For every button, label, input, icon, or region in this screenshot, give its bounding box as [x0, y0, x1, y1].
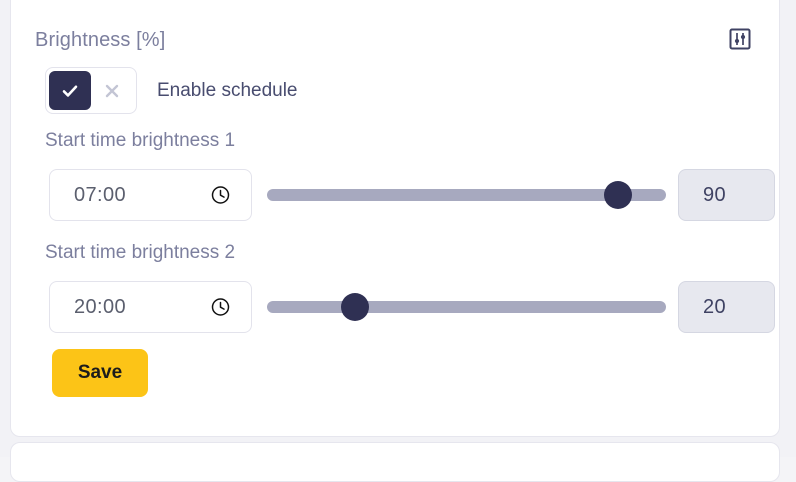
next-card-peek	[10, 442, 780, 482]
start-time-brightness-1-label: Start time brightness 1	[45, 130, 235, 152]
brightness-1-slider-knob[interactable]	[604, 181, 632, 209]
clock-icon[interactable]	[211, 186, 230, 205]
brightness-1-slider[interactable]	[267, 184, 666, 206]
enable-schedule-toggle[interactable]	[45, 67, 137, 114]
brightness-2-slider[interactable]	[267, 296, 666, 318]
enable-schedule-row: Enable schedule	[45, 67, 298, 114]
card-body: Brightness [%]	[11, 0, 779, 436]
enable-schedule-label: Enable schedule	[157, 80, 298, 102]
brightness-2-row: 20:00 20	[11, 281, 779, 333]
start-time-2-value: 20:00	[74, 296, 126, 319]
toggle-option-off[interactable]	[91, 71, 133, 110]
start-time-1-input[interactable]: 07:00	[49, 169, 252, 221]
start-time-1-value: 07:00	[74, 184, 126, 207]
brightness-1-value: 90	[703, 184, 726, 207]
start-time-brightness-2-label: Start time brightness 2	[45, 242, 235, 264]
toggle-option-on[interactable]	[49, 71, 91, 110]
brightness-2-value-box[interactable]: 20	[678, 281, 775, 333]
brightness-settings-card: Brightness [%]	[10, 0, 780, 437]
page-title: Brightness [%]	[35, 29, 165, 52]
start-time-2-input[interactable]: 20:00	[49, 281, 252, 333]
brightness-1-value-box[interactable]: 90	[678, 169, 775, 221]
brightness-2-value: 20	[703, 296, 726, 319]
clock-icon[interactable]	[211, 298, 230, 317]
page-background: Brightness [%]	[0, 0, 796, 457]
save-button[interactable]: Save	[52, 349, 148, 397]
sliders-icon[interactable]	[728, 27, 752, 51]
brightness-1-row: 07:00 90	[11, 169, 779, 221]
brightness-2-slider-track[interactable]	[267, 301, 666, 313]
brightness-2-slider-knob[interactable]	[341, 293, 369, 321]
